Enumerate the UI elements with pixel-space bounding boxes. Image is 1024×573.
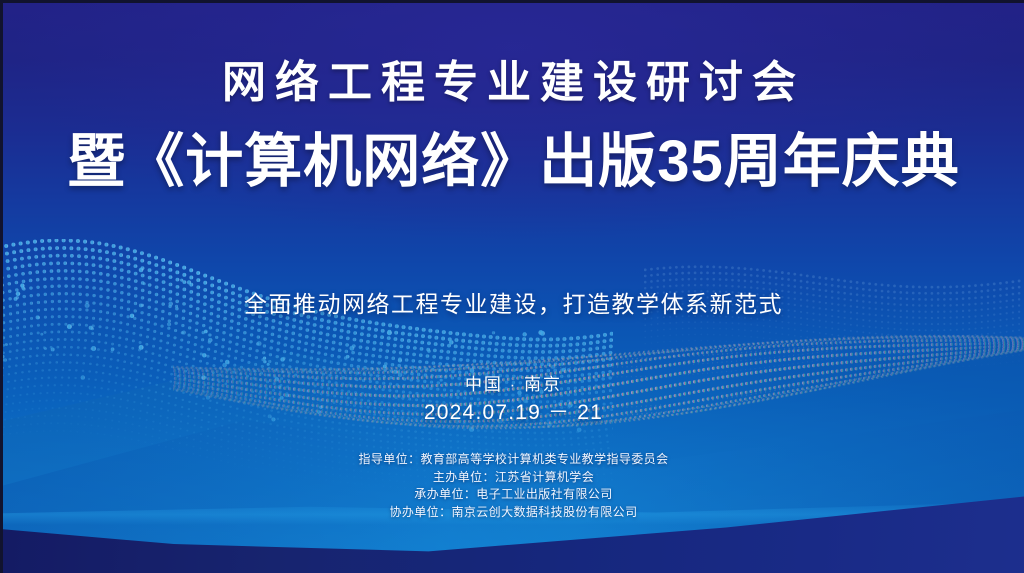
organizer-guidance: 指导单位：教育部高等学校计算机类专业教学指导委员会: [3, 451, 1024, 469]
conference-poster: 网络工程专业建设研讨会 暨《计算机网络》出版35周年庆典 全面推动网络工程专业建…: [0, 0, 1024, 573]
venue-block: 中国 · 南京 2024.07.19 － 21: [3, 373, 1024, 427]
poster-title: 网络工程专业建设研讨会 暨《计算机网络》出版35周年庆典: [3, 55, 1024, 197]
title-line-2: 暨《计算机网络》出版35周年庆典: [3, 127, 1024, 197]
organizer-undertaker: 承办单位：电子工业出版社有限公司: [3, 486, 1024, 504]
venue-place: 中国 · 南京: [3, 373, 1024, 397]
venue-date: 2024.07.19 － 21: [3, 399, 1024, 427]
organizer-host: 主办单位：江苏省计算机学会: [3, 469, 1024, 487]
title-line-1: 网络工程专业建设研讨会: [3, 55, 1024, 111]
poster-subtitle: 全面推动网络工程专业建设，打造教学体系新范式: [3, 285, 1024, 319]
organizer-list: 指导单位：教育部高等学校计算机类专业教学指导委员会 主办单位：江苏省计算机学会 …: [3, 451, 1024, 521]
organizer-coorganizer: 协办单位：南京云创大数据科技股份有限公司: [3, 504, 1024, 522]
